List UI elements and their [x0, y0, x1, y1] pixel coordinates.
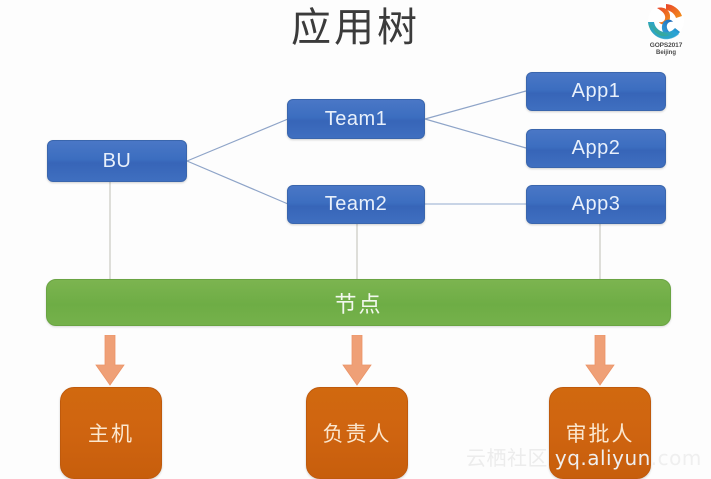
page-title: 应用树: [0, 2, 711, 54]
down-arrow-icon-owner: [342, 335, 372, 387]
attribute-box-owner[interactable]: 负责人: [306, 387, 408, 479]
tree-node-bu-label: BU: [103, 150, 132, 173]
tree-node-app3-label: App3: [572, 193, 621, 216]
logo-text-secondary: Beijing: [635, 50, 697, 57]
down-arrow-icon-host: [95, 335, 125, 387]
tree-node-app3[interactable]: App3: [526, 185, 666, 224]
watermark: 云栖社区 yq.aliyun.com: [466, 446, 702, 470]
edge-bu-team2: [187, 161, 288, 204]
gops-logo-mark: [646, 2, 686, 42]
attribute-box-host-label: 主机: [88, 418, 134, 448]
tree-node-app1-label: App1: [572, 80, 621, 103]
tree-node-team1-label: Team1: [325, 108, 388, 131]
tree-node-bu[interactable]: BU: [47, 140, 187, 182]
watermark-url: yq.aliyun.com: [555, 446, 702, 470]
tree-node-app2-label: App2: [572, 137, 621, 160]
node-bar-label: 节点: [334, 287, 382, 319]
edge-team1-app1: [425, 91, 526, 119]
tree-node-app1[interactable]: App1: [526, 72, 666, 111]
edge-team1-app2: [425, 119, 526, 148]
tree-node-team2-label: Team2: [325, 193, 388, 216]
attribute-box-approver-label: 审批人: [566, 418, 635, 448]
node-bar[interactable]: 节点: [46, 279, 671, 326]
attribute-box-host[interactable]: 主机: [60, 387, 162, 479]
slide-canvas: 应用树: [0, 0, 711, 479]
tree-node-team1[interactable]: Team1: [287, 99, 425, 139]
tree-node-app2[interactable]: App2: [526, 129, 666, 168]
edge-bu-team1: [187, 119, 288, 161]
watermark-site-name: 云栖社区: [466, 446, 548, 470]
logo-text-primary: GOPS2017: [635, 42, 697, 50]
gops-conference-logo: GOPS2017 Beijing: [635, 2, 697, 58]
attribute-box-owner-label: 负责人: [323, 418, 392, 448]
down-arrow-icon-approver: [585, 335, 615, 387]
tree-node-team2[interactable]: Team2: [287, 185, 425, 224]
